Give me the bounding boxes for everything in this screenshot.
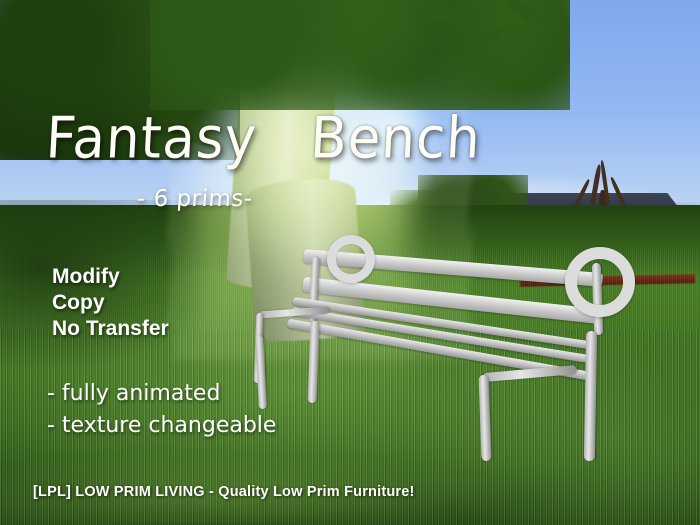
product-advertisement-image: Fantasy Bench - 6 prims- Modify Copy No … xyxy=(0,0,700,525)
title-word-fantasy: Fantasy xyxy=(44,106,258,172)
prim-count-subtitle: - 6 prims- xyxy=(136,186,254,212)
permission-copy: Copy xyxy=(52,290,169,316)
title-word-bench: Bench xyxy=(309,106,483,172)
tree-canopy-top xyxy=(150,0,570,110)
park-bench xyxy=(255,235,655,475)
feature-fully-animated: - fully animated xyxy=(47,378,276,410)
bench-armrest-scroll-right xyxy=(565,247,635,317)
bench-leg-rear-right xyxy=(584,331,597,461)
feature-list: - fully animated - texture changeable xyxy=(47,378,276,442)
bench-leg-rear-left xyxy=(308,321,320,403)
bench-armrest-scroll-left xyxy=(327,235,375,283)
permission-no-transfer: No Transfer xyxy=(52,316,169,342)
feature-texture-changeable: - texture changeable xyxy=(47,410,276,442)
brand-footer: [LPL] LOW PRIM LIVING - Quality Low Prim… xyxy=(33,484,415,500)
bench-leg-front-right xyxy=(479,375,492,461)
permission-modify: Modify xyxy=(52,264,169,290)
product-title: Fantasy Bench xyxy=(44,106,482,172)
permissions-list: Modify Copy No Transfer xyxy=(52,264,169,342)
